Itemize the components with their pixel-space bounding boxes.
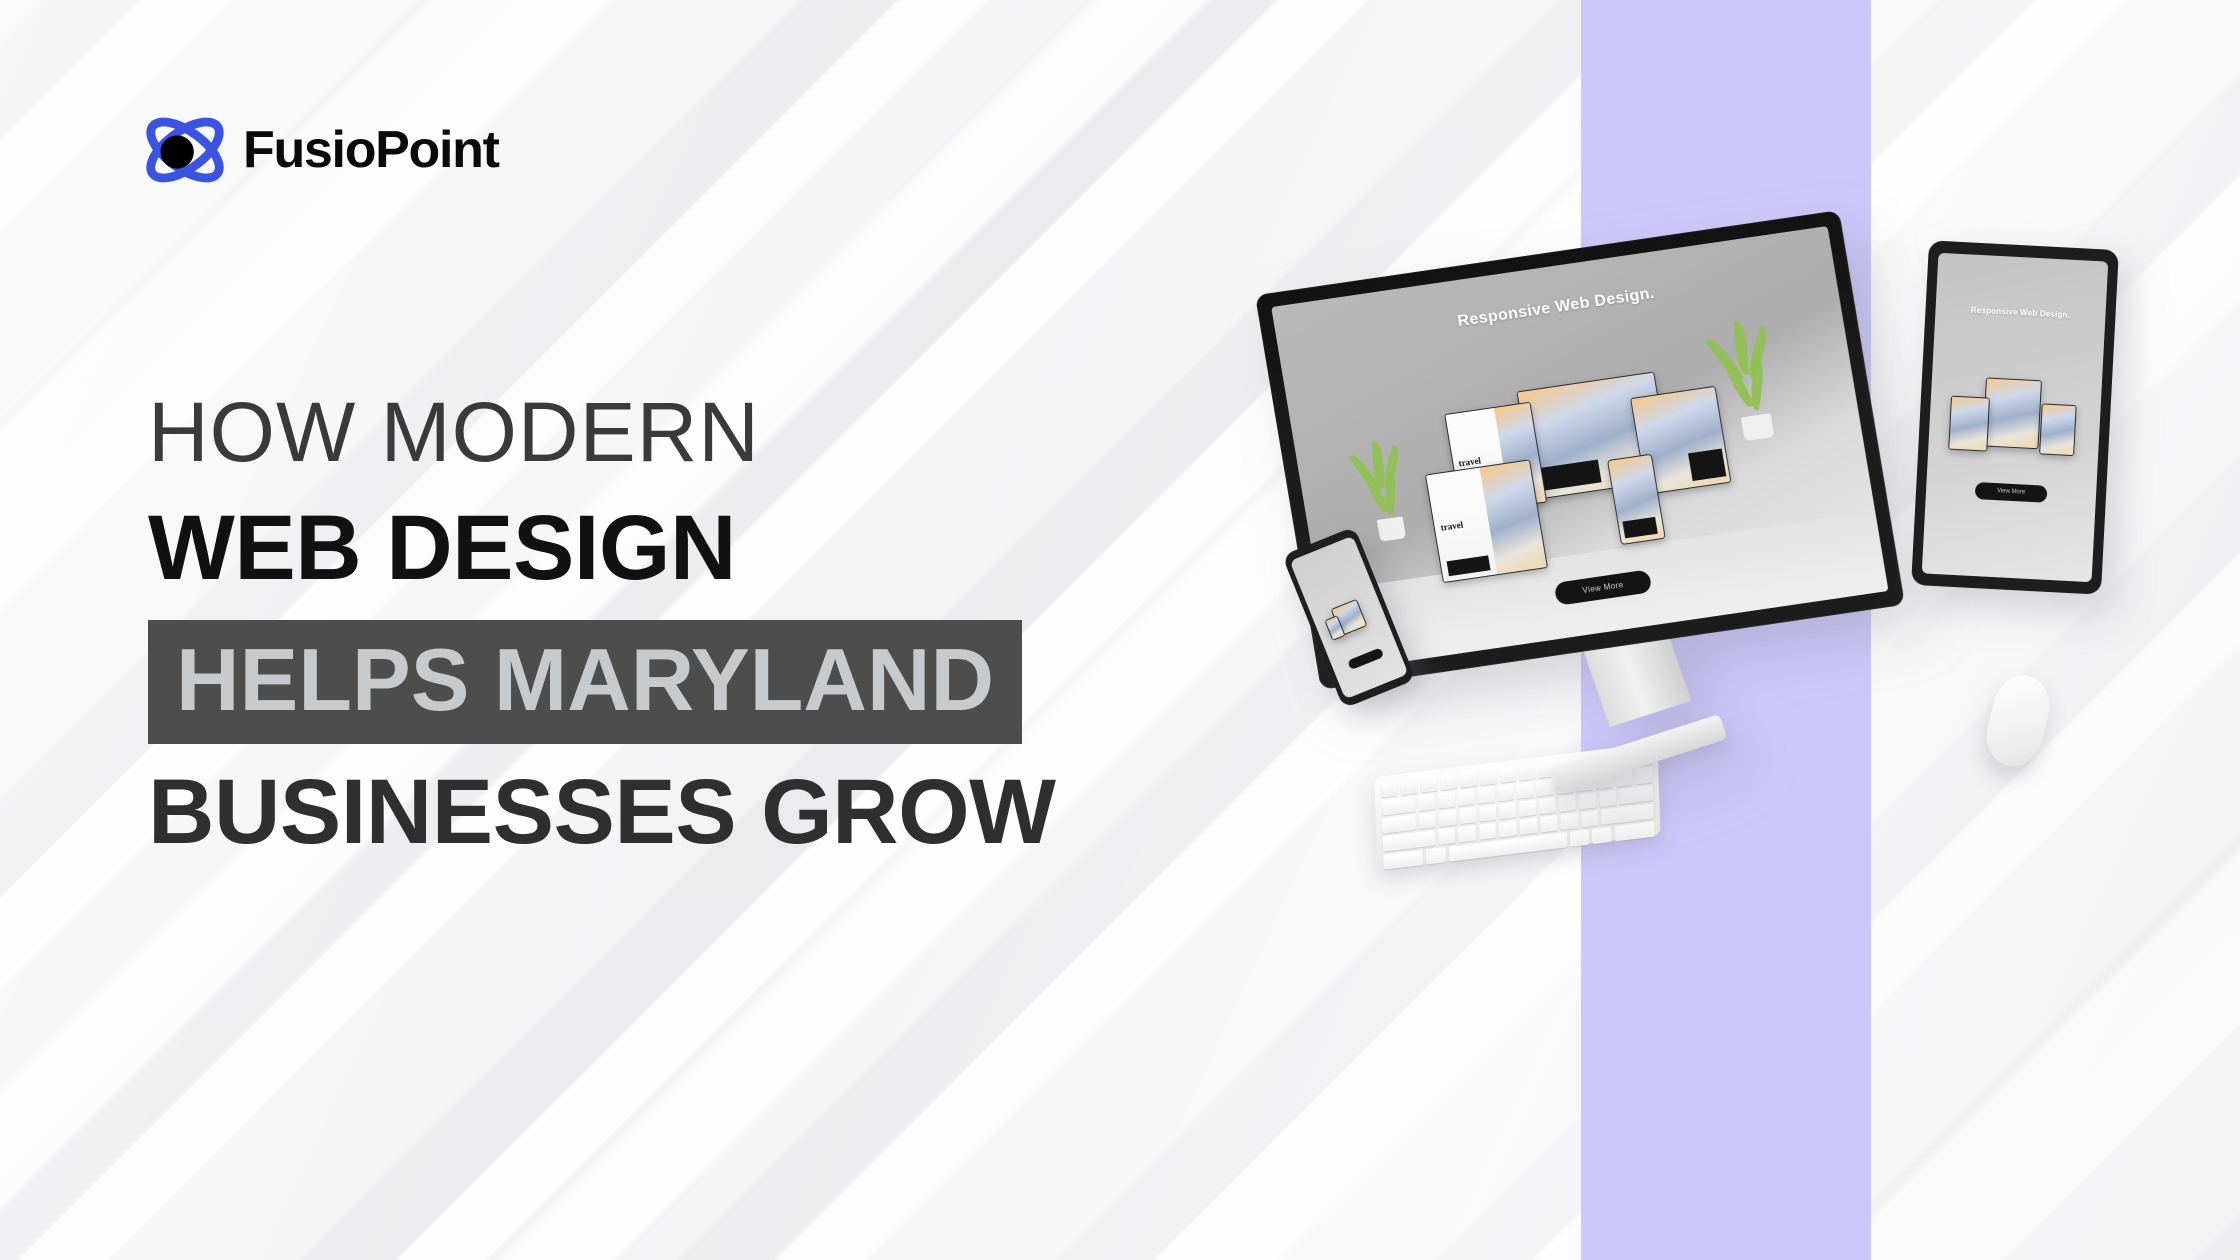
mouse-mockup <box>1980 670 2057 773</box>
headline-line-3-wrapper: HELPS MARYLAND <box>148 620 1348 766</box>
cluster-card-word: travel <box>1440 516 1489 533</box>
headline-line-2: WEB DESIGN <box>148 502 1348 594</box>
tablet-mockup: Responsive Web Design. View More <box>1911 240 2119 594</box>
phone-cta-button[interactable] <box>1347 647 1384 670</box>
headline-highlight-band: HELPS MARYLAND <box>148 620 1022 744</box>
cluster-tablet-b: travel <box>1425 460 1548 584</box>
tablet-cta-button[interactable]: View More <box>1975 482 2048 503</box>
plant-left-icon <box>1351 436 1429 553</box>
tablet-inner-cluster <box>1948 376 2081 466</box>
tablet-screen-title: Responsive Web Design. <box>1935 304 2105 322</box>
phone-inner-cluster <box>1321 595 1379 644</box>
atom-orbit-icon <box>136 104 234 196</box>
hero-banner: FusioPoint HOW MODERN WEB DESIGN HELPS M… <box>0 0 2240 1260</box>
brand-logo[interactable]: FusioPoint <box>136 104 499 196</box>
brand-name: FusioPoint <box>243 124 499 176</box>
headline-line-4: BUSINESSES GROW <box>148 766 1348 858</box>
headline-block: HOW MODERN WEB DESIGN HELPS MARYLAND BUS… <box>148 390 1348 858</box>
device-mockup-composition: Responsive Web Design. travel <box>1300 300 2240 940</box>
headline-line-1: HOW MODERN <box>148 390 1348 474</box>
tablet-screen: Responsive Web Design. View More <box>1922 253 2109 582</box>
